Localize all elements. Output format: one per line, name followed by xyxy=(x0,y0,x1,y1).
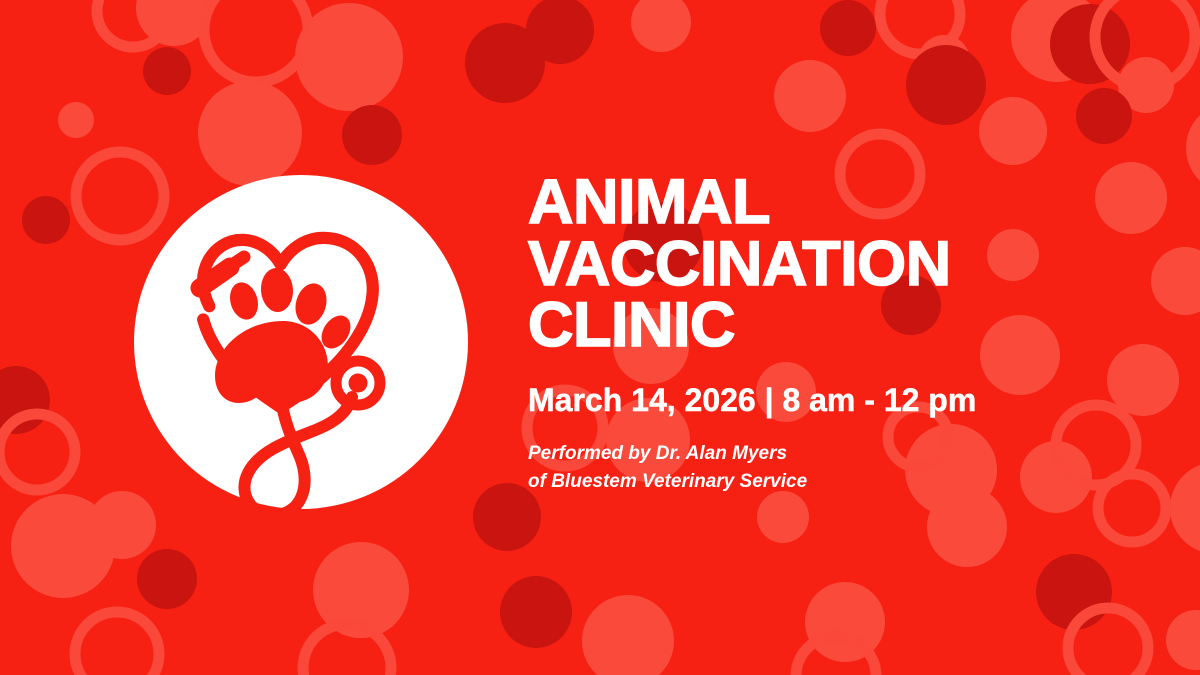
credit-line-1: Performed by Dr. Alan Myers xyxy=(528,440,1128,468)
paw-pad xyxy=(215,321,328,403)
background-dot-light xyxy=(979,97,1047,165)
background-dot-dark xyxy=(342,105,402,165)
headline-line-2: VACCINATION xyxy=(528,234,1128,296)
event-date-time: March 14, 2026 | 8 am - 12 pm xyxy=(528,383,1128,418)
background-dot-light xyxy=(301,11,373,83)
heart-stethoscope-paw-icon xyxy=(134,175,468,509)
background-dot-light xyxy=(774,60,846,132)
stethoscope-tube-lower xyxy=(244,397,352,509)
background-dot-light xyxy=(757,491,809,543)
paw-toe-3 xyxy=(291,280,331,329)
poster-canvas: ANIMAL VACCINATION CLINIC March 14, 2026… xyxy=(0,0,1200,675)
stethoscope-eartip-tip xyxy=(232,257,244,265)
background-dot-dark xyxy=(137,549,197,609)
background-dot-light xyxy=(58,102,94,138)
logo-badge xyxy=(134,175,468,509)
page-title: ANIMAL VACCINATION CLINIC xyxy=(528,172,1128,357)
text-block: ANIMAL VACCINATION CLINIC March 14, 2026… xyxy=(528,172,1128,495)
background-dot-dark xyxy=(906,45,986,125)
background-dot-dark xyxy=(820,0,876,56)
credit-line-2: of Bluestem Veterinary Service xyxy=(528,468,1128,496)
background-dot-dark xyxy=(500,576,572,648)
paw-toe-2 xyxy=(260,267,295,313)
credit-text: Performed by Dr. Alan Myers of Bluestem … xyxy=(528,440,1128,495)
background-dot-light xyxy=(198,81,302,185)
background-dot-dark xyxy=(1076,88,1132,144)
headline-line-1: ANIMAL xyxy=(528,172,1128,234)
headline-line-3: CLINIC xyxy=(528,295,1128,357)
stethoscope-chestpiece-center xyxy=(349,374,368,393)
background-dot-dark xyxy=(143,47,191,95)
background-dot-dark xyxy=(22,196,70,244)
paw-toe-1 xyxy=(226,279,262,323)
